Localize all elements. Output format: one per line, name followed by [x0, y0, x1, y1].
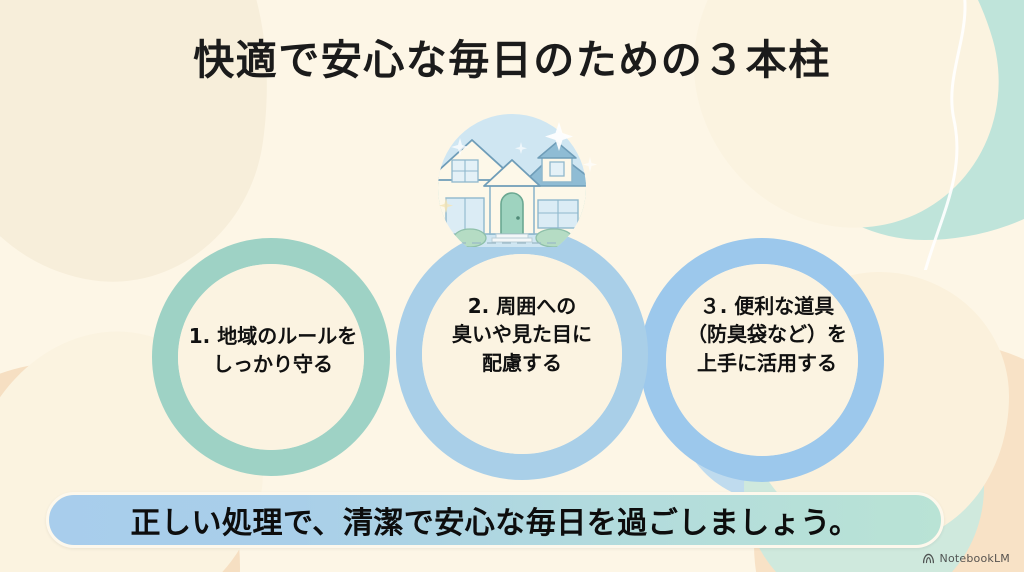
house-illustration [404, 112, 620, 247]
notebooklm-logo-icon [922, 552, 935, 565]
slide-canvas: 快適で安心な毎日のための３本柱 [0, 0, 1024, 572]
watermark-label: NotebookLM [940, 552, 1010, 565]
page-title: 快適で安心な毎日のための３本柱 [0, 26, 1024, 86]
summary-banner-text: 正しい処理で、清潔で安心な毎日を過ごしましょう。 [131, 498, 860, 542]
front-door [501, 193, 523, 234]
pillar-label-2: 2. 周囲への 臭いや見た目に 配慮する [398, 292, 646, 377]
pillar-label-1: 1. 地域のルールを しっかり守る [148, 322, 398, 379]
summary-banner: 正しい処理で、清潔で安心な毎日を過ごしましょう。 [46, 492, 944, 548]
watermark: NotebookLM [922, 552, 1010, 565]
pillar-label-3: ３. 便利な道具 （防臭袋など）を 上手に活用する [640, 292, 894, 377]
